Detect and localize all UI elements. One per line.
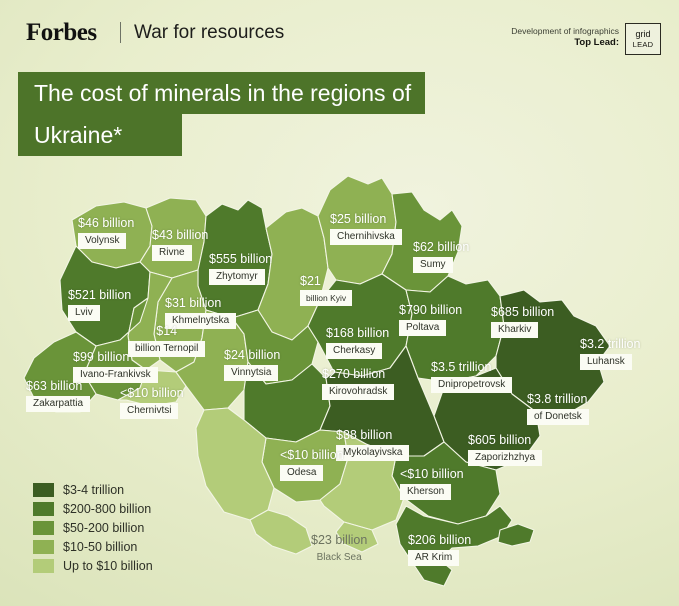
header-section-title: War for resources <box>134 22 284 44</box>
map-label-kharkiv-name: Kharkiv <box>491 322 538 338</box>
map-label-dnipropetrovsk[interactable]: $3.5 trillion Dnipropetrovsk <box>431 360 512 393</box>
map-label-odesa-name: Odesa <box>280 465 323 481</box>
legend-swatch-0 <box>33 483 54 497</box>
map-label-kharkiv[interactable]: $685 billion Kharkiv <box>491 305 554 338</box>
map-label-kherson-value: <$10 billion <box>400 467 464 481</box>
map-label-donetsk-name: of Donetsk <box>527 409 589 425</box>
map-label-kyiv-region: Kyiv <box>330 293 346 303</box>
legend-item-4[interactable]: Up to $10 billion <box>33 556 153 575</box>
map-label-rivne-value: $43 billion <box>152 228 208 242</box>
map-label-kyiv-value: $21 <box>300 274 352 288</box>
infographic-page: Forbes War for resources Development of … <box>0 0 679 606</box>
title-line-1: The cost of minerals in the regions of <box>18 72 425 114</box>
credit-line-2: Top Lead: <box>511 37 619 49</box>
map-label-cherkasy-value: $168 billion <box>326 326 389 340</box>
forbes-logo: Forbes <box>26 20 97 45</box>
legend-item-3[interactable]: $10-50 billion <box>33 537 153 556</box>
map-label-chernivtsi-value: <$10 billion <box>120 386 184 400</box>
map-label-lviv-value: $521 billion <box>68 288 131 302</box>
map-label-donetsk-value: $3.8 trillion <box>527 392 589 406</box>
map-label-sumy-value: $62 billion <box>413 240 469 254</box>
map-label-zhytomyr[interactable]: $555 billion Zhytomyr <box>209 252 272 285</box>
map-label-zakarpattia[interactable]: $63 billion Zakarpattia <box>26 379 90 412</box>
map-label-ar-krim[interactable]: $206 billion AR Krim <box>408 533 471 566</box>
map-label-mykolayivska-value: $38 billion <box>336 428 409 442</box>
legend-swatch-3 <box>33 540 54 554</box>
map-label-poltava-value: $790 billion <box>399 303 462 317</box>
legend-label-4: Up to $10 billion <box>63 559 153 573</box>
map-label-kharkiv-value: $685 billion <box>491 305 554 319</box>
legend-label-3: $10-50 billion <box>63 540 137 554</box>
map-label-chernihivska-value: $25 billion <box>330 212 402 226</box>
legend-swatch-1 <box>33 502 54 516</box>
map-label-kyiv[interactable]: $21 billion Kyiv <box>300 274 352 306</box>
map-label-zaporizhzhya-name: Zaporizhzhya <box>468 450 542 466</box>
map-label-volynsk[interactable]: $46 billion Volynsk <box>78 216 134 249</box>
map-label-black-sea-name: Black Sea <box>317 552 362 564</box>
map-label-chernivtsi-name: Chernivtsi <box>120 403 178 419</box>
map-label-vinnytsia[interactable]: $24 billion Vinnytsia <box>224 348 280 381</box>
map-label-zaporizhzhya[interactable]: $605 billion Zaporizhzhya <box>468 433 542 466</box>
map-label-cherkasy-name: Cherkasy <box>326 343 382 359</box>
map-label-dnipropetrovsk-name: Dnipropetrovsk <box>431 377 512 393</box>
map-label-zaporizhzhya-value: $605 billion <box>468 433 542 447</box>
credit-text: Development of infographics Top Lead: <box>511 26 619 49</box>
header: Forbes War for resources Development of … <box>0 0 679 58</box>
map-label-sumy[interactable]: $62 billion Sumy <box>413 240 469 273</box>
map-label-kherson[interactable]: <$10 billion Kherson <box>400 467 464 500</box>
map-label-ar-krim-value: $206 billion <box>408 533 471 547</box>
region-odesa-coast[interactable] <box>250 510 312 554</box>
page-title: The cost of minerals in the regions of U… <box>18 72 425 156</box>
legend-swatch-2 <box>33 521 54 535</box>
map-label-lviv-name: Lviv <box>68 305 100 321</box>
map-label-ternopil-region: Ternopil <box>163 343 198 354</box>
map-label-black-sea: $23 billion Black Sea <box>311 533 367 565</box>
map-label-poltava[interactable]: $790 billion Poltava <box>399 303 462 336</box>
map-label-ivano-frankivsk-value: $99 billion <box>73 350 158 364</box>
map-label-luhansk-name: Luhansk <box>580 354 632 370</box>
legend-item-1[interactable]: $200-800 billion <box>33 499 153 518</box>
legend-swatch-4 <box>33 559 54 573</box>
map-label-zhytomyr-name: Zhytomyr <box>209 269 265 285</box>
map-label-poltava-name: Poltava <box>399 320 446 336</box>
legend-label-2: $50-200 billion <box>63 521 144 535</box>
map-label-donetsk[interactable]: $3.8 trillion of Donetsk <box>527 392 589 425</box>
map-label-luhansk-value: $3.2 trillion <box>580 337 640 351</box>
map-label-zakarpattia-name: Zakarpattia <box>26 396 90 412</box>
map-label-lviv[interactable]: $521 billion Lviv <box>68 288 131 321</box>
map-label-khmelnytska-value: $31 billion <box>165 296 236 310</box>
map-label-mykolayivska-name: Mykolayivska <box>336 445 409 461</box>
map-label-chernihivska-name: Chernihivska <box>330 229 402 245</box>
map-label-kyiv-name: billion Kyiv <box>300 290 352 306</box>
map-label-sumy-name: Sumy <box>413 257 453 273</box>
map-label-odesa[interactable]: <$10 billion Odesa <box>280 448 344 481</box>
map-label-volynsk-value: $46 billion <box>78 216 134 230</box>
map-label-mykolayivska[interactable]: $38 billion Mykolayivska <box>336 428 409 461</box>
map-label-luhansk[interactable]: $3.2 trillion Luhansk <box>580 337 640 370</box>
map-label-rivne[interactable]: $43 billion Rivne <box>152 228 208 261</box>
legend-label-0: $3-4 trillion <box>63 483 124 497</box>
map-label-black-sea-value: $23 billion <box>311 533 367 547</box>
map-label-vinnytsia-value: $24 billion <box>224 348 280 362</box>
map-label-zhytomyr-value: $555 billion <box>209 252 272 266</box>
map-label-volynsk-name: Volynsk <box>78 233 126 249</box>
gridlead-logo-top: grid <box>635 29 650 40</box>
map-label-cherkasy[interactable]: $168 billion Cherkasy <box>326 326 389 359</box>
header-divider <box>120 22 121 43</box>
map-label-chernivtsi[interactable]: <$10 billion Chernivtsi <box>120 386 184 419</box>
map-label-kyiv-suffix: billion <box>306 293 328 303</box>
map-label-zakarpattia-value: $63 billion <box>26 379 90 393</box>
map-label-dnipropetrovsk-value: $3.5 trillion <box>431 360 512 374</box>
gridlead-logo-bottom: LEAD <box>633 40 654 50</box>
map-label-ternopil-value: $14 <box>128 324 205 338</box>
map-label-kirovohradsk-value: $270 billion <box>322 367 394 381</box>
legend-item-0[interactable]: $3-4 trillion <box>33 480 153 499</box>
map-label-kirovohradsk-name: Kirovohradsk <box>322 384 394 400</box>
map-legend: $3-4 trillion $200-800 billion $50-200 b… <box>33 480 153 575</box>
map-label-rivne-name: Rivne <box>152 245 192 261</box>
gridlead-logo: grid LEAD <box>625 23 661 55</box>
map-label-kirovohradsk[interactable]: $270 billion Kirovohradsk <box>322 367 394 400</box>
map-label-odesa-value: <$10 billion <box>280 448 344 462</box>
map-label-vinnytsia-name: Vinnytsia <box>224 365 278 381</box>
credit-line-1: Development of infographics <box>511 26 619 37</box>
legend-item-2[interactable]: $50-200 billion <box>33 518 153 537</box>
map-label-chernihivska[interactable]: $25 billion Chernihivska <box>330 212 402 245</box>
map-label-ar-krim-name: AR Krim <box>408 550 459 566</box>
map-label-kherson-name: Kherson <box>400 484 451 500</box>
legend-label-1: $200-800 billion <box>63 502 151 516</box>
